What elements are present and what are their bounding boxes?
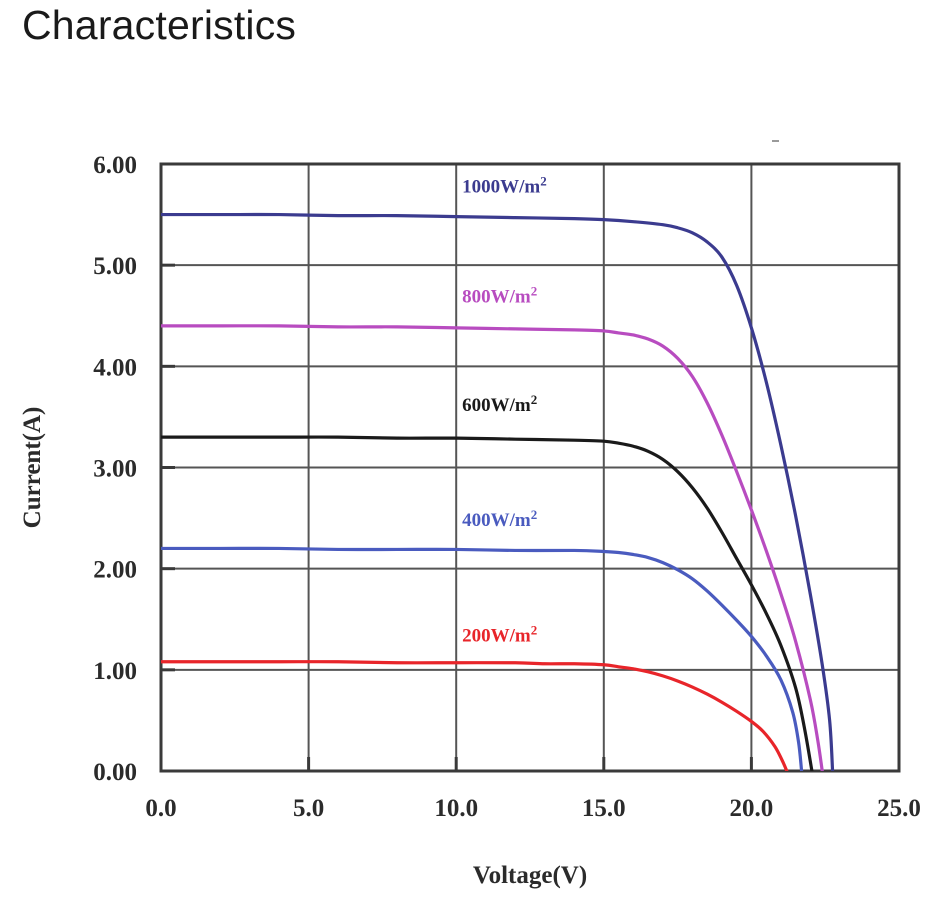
curve-200wm2 <box>161 662 787 771</box>
curve-600wm2 <box>161 437 812 771</box>
x-axis-tick-labels: 0.05.010.015.020.025.0 <box>145 795 921 822</box>
series-annotation-1000wm2: 1000W/m2 <box>462 173 547 197</box>
series-annotation-label: 200W/m2 <box>462 623 537 647</box>
x-tick-label: 25.0 <box>877 795 921 822</box>
y-tick-label: 5.00 <box>93 253 137 280</box>
y-tick-label: 6.00 <box>93 152 137 179</box>
x-axis-title: Voltage(V) <box>473 862 587 889</box>
y-tick-label: 1.00 <box>93 658 137 685</box>
y-axis-tick-labels: 0.001.002.003.004.005.006.00 <box>93 152 137 786</box>
series-annotation-200wm2: 200W/m2 <box>462 623 537 647</box>
y-tick-label: 4.00 <box>93 354 137 381</box>
stray-artifact-mark <box>772 140 779 142</box>
curve-400wm2 <box>161 548 802 771</box>
y-axis-title: Current(A) <box>19 407 46 529</box>
x-tick-label: 5.0 <box>293 795 324 822</box>
chart-canvas: 0.05.010.015.020.025.0 0.001.002.003.004… <box>0 0 936 904</box>
x-tick-label: 15.0 <box>582 795 626 822</box>
iv-characteristics-chart: 0.05.010.015.020.025.0 0.001.002.003.004… <box>0 0 936 904</box>
y-tick-label: 3.00 <box>93 456 137 483</box>
y-tick-label: 2.00 <box>93 557 137 584</box>
x-tick-label: 10.0 <box>434 795 478 822</box>
series-annotation-800wm2: 800W/m2 <box>462 284 537 308</box>
series-annotation-label: 800W/m2 <box>462 284 537 308</box>
series-annotation-600wm2: 600W/m2 <box>462 392 537 416</box>
series-annotation-label: 600W/m2 <box>462 392 537 416</box>
series-annotation-label: 400W/m2 <box>462 507 537 531</box>
y-tick-label: 0.00 <box>93 759 137 786</box>
series-annotation-400wm2: 400W/m2 <box>462 507 537 531</box>
x-tick-label: 0.0 <box>145 795 176 822</box>
series-annotation-label: 1000W/m2 <box>462 173 547 197</box>
series-annotations: 1000W/m2800W/m2600W/m2400W/m2200W/m2 <box>462 173 547 646</box>
grid-lines <box>161 164 899 771</box>
x-tick-label: 20.0 <box>730 795 774 822</box>
